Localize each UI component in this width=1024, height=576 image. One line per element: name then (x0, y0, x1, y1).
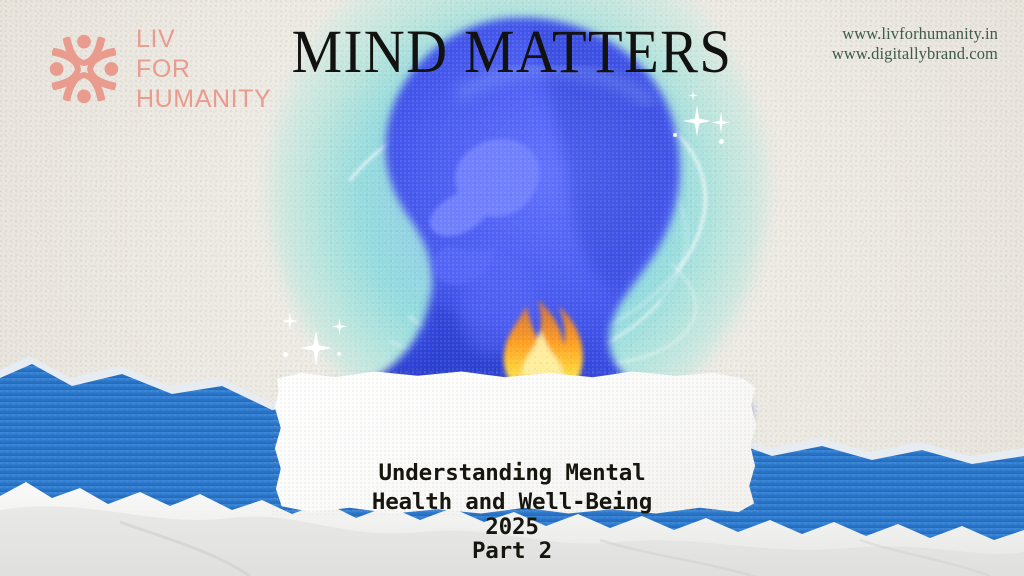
brand-name: LIV FOR HUMANITY (136, 24, 271, 114)
four-people-radial-logo-icon (46, 31, 122, 107)
url-line-1[interactable]: www.livforhumanity.in (832, 24, 998, 44)
poster-canvas: MIND MATTERS Understanding Mental Health… (0, 0, 1024, 576)
website-urls[interactable]: www.livforhumanity.in www.digitallybrand… (832, 24, 998, 64)
subtitle-part: Part 2 (0, 536, 1024, 566)
subtitle-line-1: Understanding Mental (0, 458, 1024, 488)
sparkle-dot-icon (673, 133, 677, 137)
brand-name-line-2: FOR (136, 54, 271, 84)
brand-name-line-3: HUMANITY (136, 84, 271, 114)
brand-logo[interactable]: LIV FOR HUMANITY (46, 24, 271, 114)
sparkle-dot-icon (719, 139, 724, 144)
brand-name-line-1: LIV (136, 24, 271, 54)
url-line-2[interactable]: www.digitallybrand.com (832, 44, 998, 64)
